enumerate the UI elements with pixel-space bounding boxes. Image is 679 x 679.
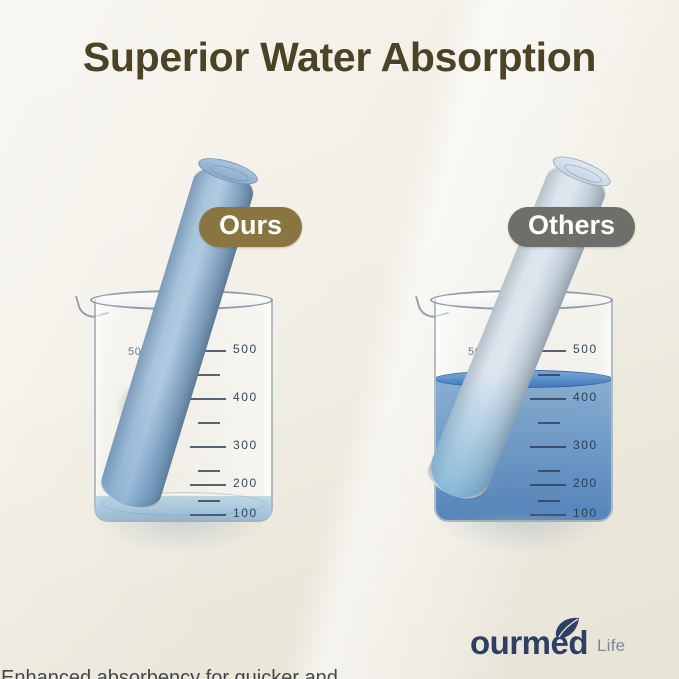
graduation-label-400: 400 — [573, 390, 598, 404]
page-title: Superior Water Absorption — [0, 34, 679, 81]
graduation-label-200: 200 — [573, 476, 598, 490]
graduation-label-300: 300 — [233, 438, 258, 452]
logo-suffix: Life — [597, 636, 625, 656]
badge-others: Others — [508, 207, 635, 247]
badge-ours: Ours — [199, 207, 302, 247]
graduation-label-500: 500 — [573, 342, 598, 356]
beaker-reflection — [436, 516, 607, 552]
caption-ours: Enhanced absorbency for quicker and more… — [0, 666, 339, 679]
comparison-panel-others: 500 ml 500 400 300 200 100 — [340, 120, 679, 560]
graduation-label-200: 200 — [233, 476, 258, 490]
infographic-canvas: Superior Water Absorption 500 ml 500 400 — [0, 0, 679, 679]
brand-logo: ourmed Life — [470, 626, 625, 659]
logo-wordmark-wrapper: ourmed — [470, 626, 588, 659]
graduation-label-500: 500 — [233, 342, 258, 356]
beaker-reflection — [96, 516, 267, 552]
graduation-label-300: 300 — [573, 438, 598, 452]
leaf-icon — [554, 611, 580, 644]
comparison-panel-ours: 500 ml 500 400 300 200 100 — [0, 120, 339, 560]
graduation-label-400: 400 — [233, 390, 258, 404]
